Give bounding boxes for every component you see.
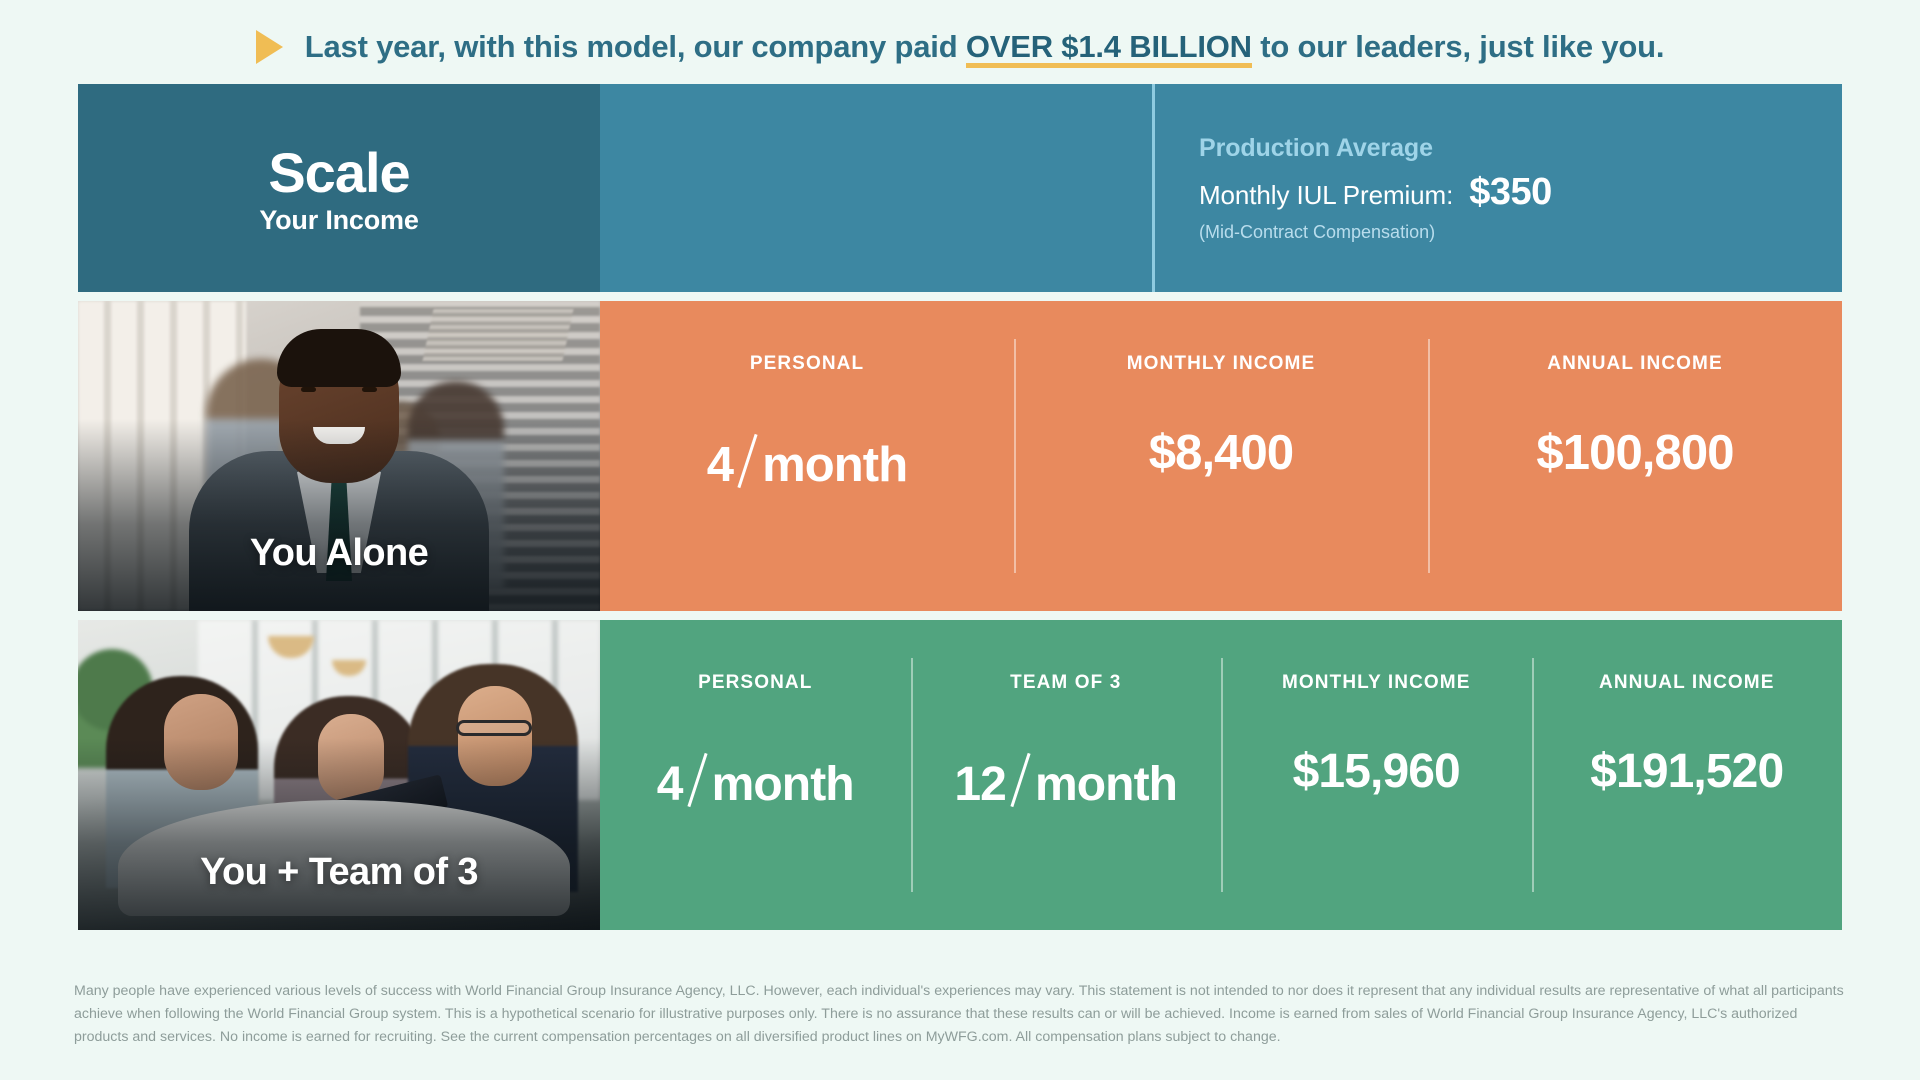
stat-number: 4 xyxy=(707,437,733,493)
stat-value: $15,960 xyxy=(1293,744,1460,799)
stat-unit: month xyxy=(1035,757,1177,812)
stat-unit: month xyxy=(712,757,854,812)
photo-you-alone: You Alone xyxy=(78,301,600,611)
photo-caption-you-alone: You Alone xyxy=(78,532,600,575)
stat-label: MONTHLY INCOME xyxy=(1127,353,1316,375)
slash-divider-icon xyxy=(737,434,757,488)
photo-caption-you-plus-team: You + Team of 3 xyxy=(78,851,600,894)
stat-value: 4 month xyxy=(657,744,854,812)
stat-number: $100,800 xyxy=(1536,425,1733,481)
slide-root: Last year, with this model, our company … xyxy=(0,0,1920,1080)
disclaimer-text: Many people have experienced various lev… xyxy=(74,980,1846,1049)
stat-label: ANNUAL INCOME xyxy=(1599,672,1774,694)
scale-header-band: Scale Your Income Production Average Mon… xyxy=(78,84,1842,292)
headline-pre: Last year, with this model, our company … xyxy=(305,29,966,64)
stats-you-alone: PERSONAL 4 month MONTHLY INCOME $8,400 A… xyxy=(600,301,1842,611)
premium-note: (Mid-Contract Compensation) xyxy=(1199,222,1842,243)
stat-personal: PERSONAL 4 month xyxy=(600,301,1014,611)
comp-table-card: Scale Your Income Production Average Mon… xyxy=(78,84,1842,930)
stat-value: $8,400 xyxy=(1149,425,1293,481)
stat-label: TEAM OF 3 xyxy=(1010,672,1121,694)
stat-label: PERSONAL xyxy=(750,353,864,375)
stat-number: 4 xyxy=(657,757,683,812)
stat-value: $100,800 xyxy=(1536,425,1733,481)
stat-annual-income: ANNUAL INCOME $100,800 xyxy=(1428,301,1842,611)
slash-divider-icon xyxy=(687,753,707,807)
scale-title: Scale xyxy=(268,144,409,201)
stat-number: $15,960 xyxy=(1293,744,1460,799)
headline-post: to our leaders, just like you. xyxy=(1252,29,1664,64)
stat-value: 4 month xyxy=(707,425,908,493)
premium-value: $350 xyxy=(1469,171,1552,214)
stat-label: PERSONAL xyxy=(698,672,812,694)
stat-value: 12 month xyxy=(954,744,1177,812)
stat-monthly-income: MONTHLY INCOME $15,960 xyxy=(1221,620,1532,930)
scale-subtitle: Your Income xyxy=(259,205,418,236)
stat-monthly-income: MONTHLY INCOME $8,400 xyxy=(1014,301,1428,611)
stat-personal: PERSONAL 4 month xyxy=(600,620,911,930)
stat-number: $8,400 xyxy=(1149,425,1293,481)
row-you-alone: You Alone PERSONAL 4 month MONTHLY INCOM… xyxy=(78,301,1842,611)
headline-emphasis: OVER $1.4 BILLION xyxy=(966,29,1252,68)
stat-annual-income: ANNUAL INCOME $191,520 xyxy=(1532,620,1843,930)
premium-line: Monthly IUL Premium: $350 xyxy=(1199,171,1842,214)
stat-label: MONTHLY INCOME xyxy=(1282,672,1471,694)
stat-unit: month xyxy=(762,437,907,493)
stat-label: ANNUAL INCOME xyxy=(1547,353,1722,375)
stats-you-plus-team: PERSONAL 4 month TEAM OF 3 12 month xyxy=(600,620,1842,930)
row-you-plus-team: You + Team of 3 PERSONAL 4 month TEAM OF… xyxy=(78,620,1842,930)
slash-divider-icon xyxy=(1010,753,1030,807)
scale-title-block: Scale Your Income xyxy=(78,84,600,292)
headline-text: Last year, with this model, our company … xyxy=(305,31,1665,62)
stat-value: $191,520 xyxy=(1590,744,1783,799)
photo-you-plus-team: You + Team of 3 xyxy=(78,620,600,930)
stat-team-of-3: TEAM OF 3 12 month xyxy=(911,620,1222,930)
premium-label: Monthly IUL Premium: xyxy=(1199,180,1453,211)
play-triangle-icon xyxy=(256,30,283,64)
production-average-heading: Production Average xyxy=(1199,134,1842,163)
header-spacer xyxy=(600,84,1152,292)
stat-number: $191,520 xyxy=(1590,744,1783,799)
stat-number: 12 xyxy=(954,757,1006,812)
production-average-block: Production Average Monthly IUL Premium: … xyxy=(1152,84,1842,292)
headline: Last year, with this model, our company … xyxy=(0,18,1920,74)
